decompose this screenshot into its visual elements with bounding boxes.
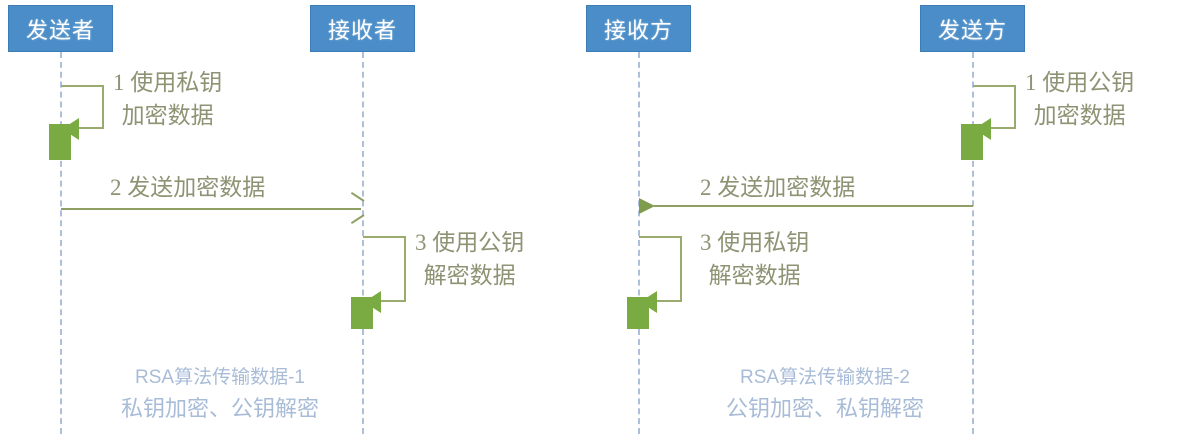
message-arrowhead-1-2 <box>349 199 362 217</box>
activation-bar-step-1-1 <box>49 124 71 160</box>
message-line-1-2 <box>61 208 361 210</box>
actor-box-sender-2[interactable]: 发送方 <box>920 5 1025 52</box>
activation-bar-step-1-3 <box>351 297 373 329</box>
step-label-2-1-line1: 1 使用公钥 <box>1025 66 1134 99</box>
caption-panel-1-line2: 私钥加密、公钥解密 <box>85 393 355 424</box>
caption-panel-1-line1: RSA算法传输数据-1 <box>85 362 355 393</box>
actor-box-receiver-2[interactable]: 接收方 <box>586 5 691 52</box>
step-label-2-1-line2: 加密数据 <box>1025 99 1134 132</box>
step-label-1-1: 1 使用私钥 加密数据 <box>113 66 222 132</box>
step-label-1-1-line1: 1 使用私钥 <box>113 66 222 99</box>
message-arrowhead-2-2 <box>639 198 655 214</box>
caption-panel-2-line2: 公钥加密、私钥解密 <box>680 393 970 424</box>
actor-label-sender-2: 发送方 <box>938 13 1007 45</box>
actor-label-receiver-1: 接收者 <box>328 13 397 45</box>
actor-label-sender-1: 发送者 <box>26 13 95 45</box>
step-label-1-3: 3 使用公钥 解密数据 <box>415 226 524 292</box>
step-label-2-3-line1: 3 使用私钥 <box>700 226 809 259</box>
step-label-1-1-line2: 加密数据 <box>113 99 222 132</box>
activation-bar-step-2-1 <box>961 124 983 160</box>
message-label-2-2: 2 发送加密数据 <box>700 168 855 202</box>
caption-panel-2-line1: RSA算法传输数据-2 <box>680 362 970 393</box>
caption-panel-1: RSA算法传输数据-1 私钥加密、公钥解密 <box>85 362 355 424</box>
message-label-1-2: 2 发送加密数据 <box>110 168 265 202</box>
step-label-2-3: 3 使用私钥 解密数据 <box>700 226 809 292</box>
message-line-2-2 <box>654 205 973 207</box>
sequence-diagram-canvas: 发送者 接收者 1 使用私钥 加密数据 2 发送加密数据 3 使用公钥 解密数据… <box>0 0 1187 434</box>
step-label-2-1: 1 使用公钥 加密数据 <box>1025 66 1134 132</box>
actor-box-receiver-1[interactable]: 接收者 <box>310 5 415 52</box>
step-label-1-3-line2: 解密数据 <box>415 259 524 292</box>
activation-bar-step-2-3 <box>627 297 649 329</box>
step-label-1-3-line1: 3 使用公钥 <box>415 226 524 259</box>
caption-panel-2: RSA算法传输数据-2 公钥加密、私钥解密 <box>680 362 970 424</box>
actor-label-receiver-2: 接收方 <box>604 13 673 45</box>
step-label-2-3-line2: 解密数据 <box>700 259 809 292</box>
actor-box-sender-1[interactable]: 发送者 <box>8 5 113 52</box>
